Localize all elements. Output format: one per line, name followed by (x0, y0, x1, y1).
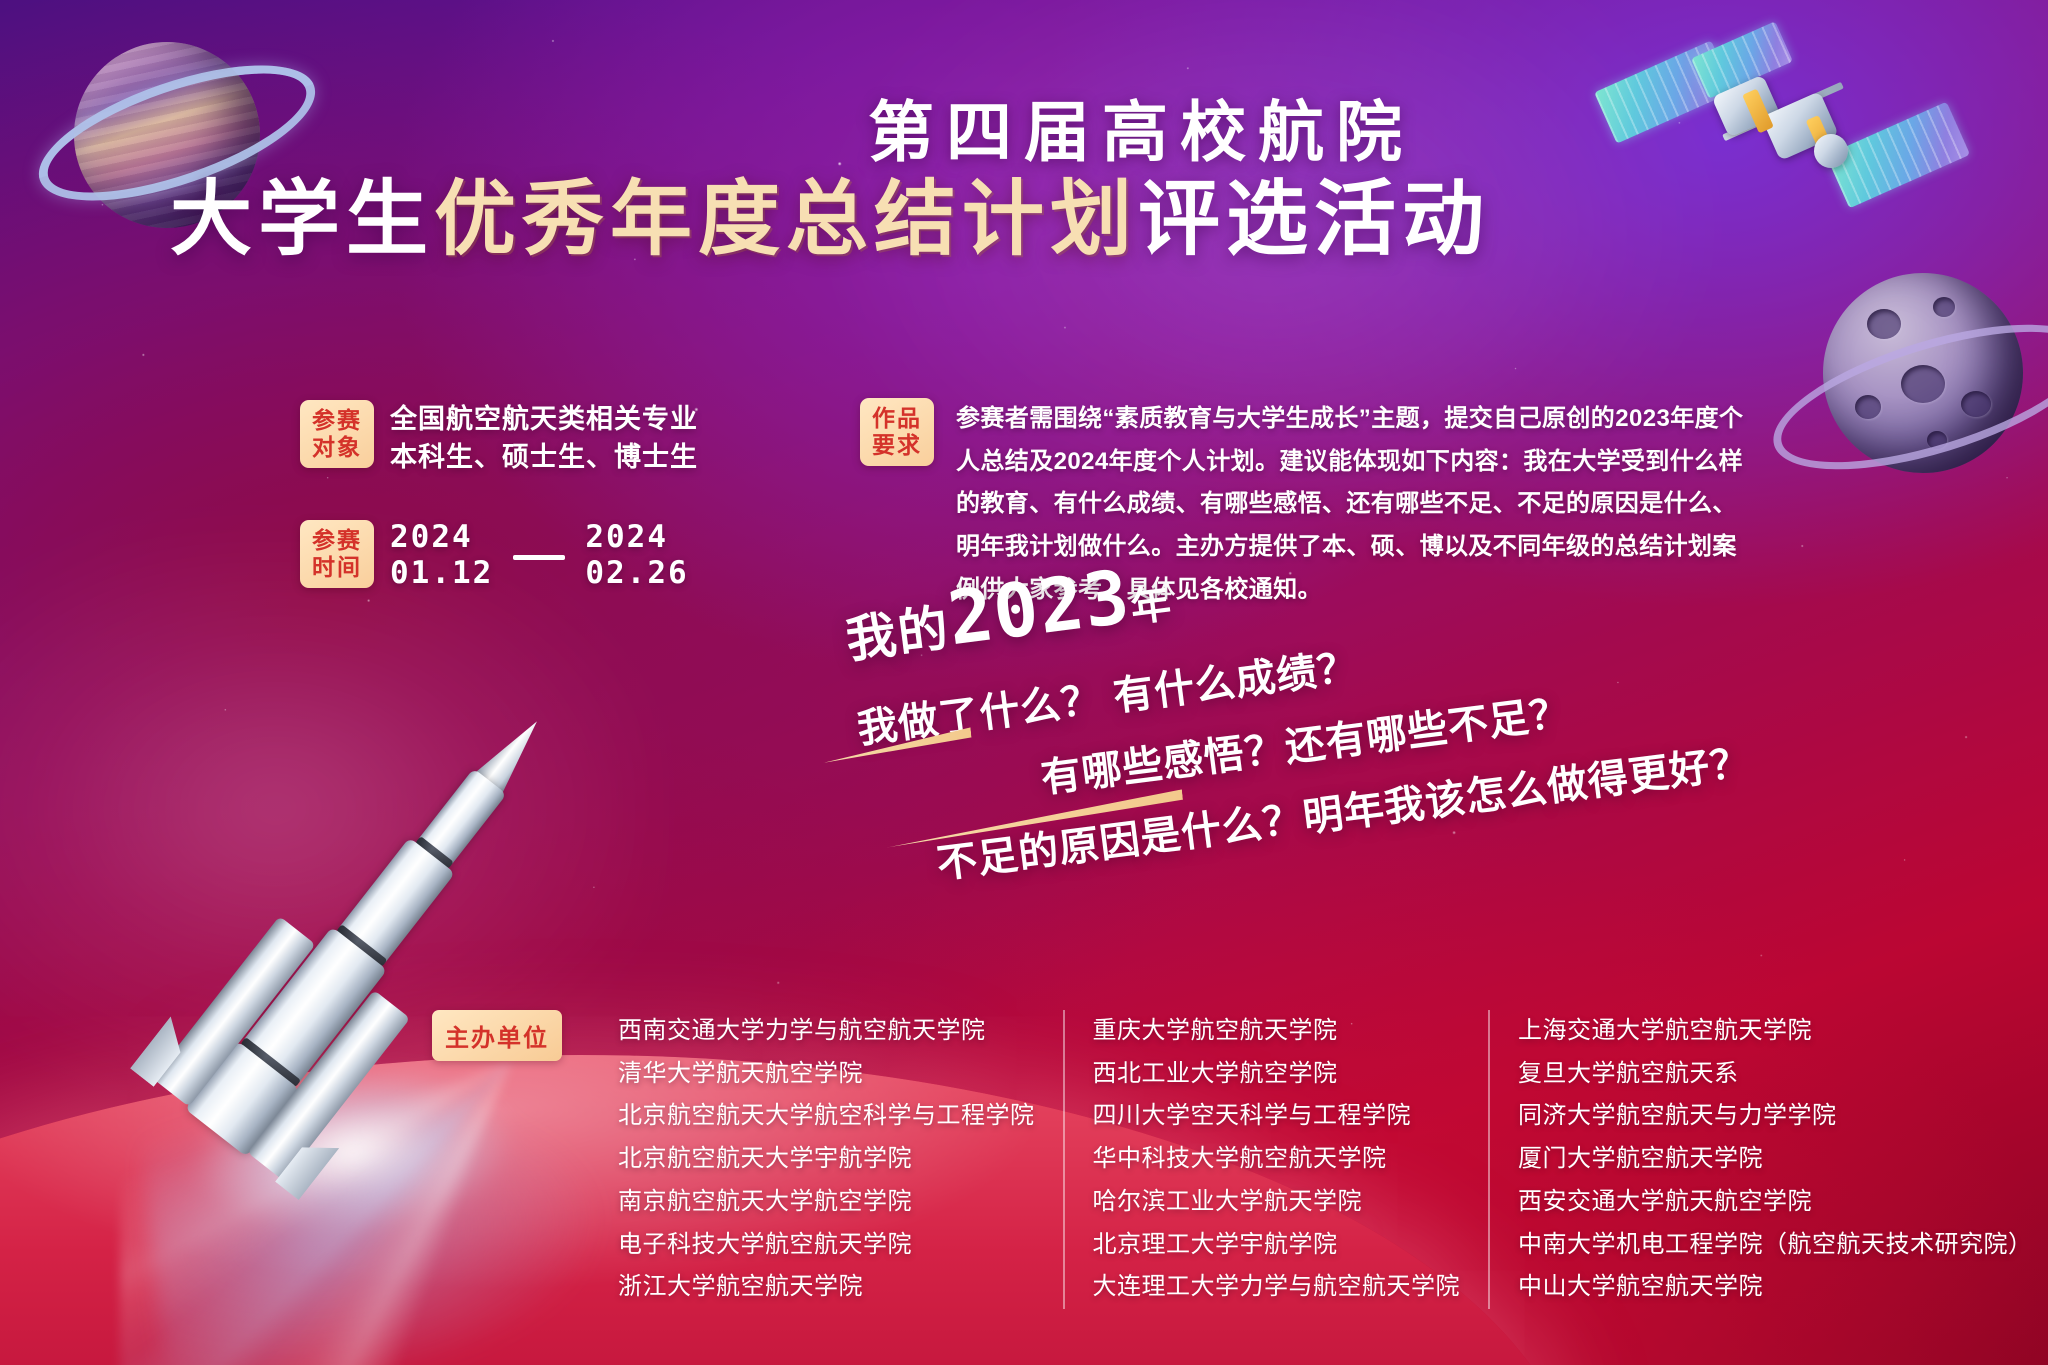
schedule-start-date: 01.12 (390, 556, 493, 592)
list-item: 复旦大学航空航天系 (1518, 1053, 2033, 1096)
audience-block: 参赛 对象 全国航空航天类相关专业 本科生、硕士生、博士生 (300, 400, 698, 477)
title-line-1: 第四届高校航院 (170, 96, 1420, 170)
list-item: 北京理工大学宇航学院 (1093, 1224, 1461, 1267)
requirements-chip-line-2: 要求 (872, 432, 922, 458)
organizers-column-3: 上海交通大学航空航天学院 复旦大学航空航天系 同济大学航空航天与力学学院 厦门大… (1488, 1010, 2048, 1309)
organizers-column-1: 西南交通大学力学与航空航天学院 清华大学航天航空学院 北京航空航天大学航空科学与… (590, 1010, 1063, 1309)
list-item: 西北工业大学航空学院 (1093, 1053, 1461, 1096)
audience-text: 全国航空航天类相关专业 本科生、硕士生、博士生 (390, 400, 698, 477)
list-item: 上海交通大学航空航天学院 (1518, 1010, 2033, 1053)
list-item: 清华大学航天航空学院 (618, 1053, 1035, 1096)
poster-title: 第四届高校航院 大学生优秀年度总结计划评选活动 (170, 96, 1420, 267)
schedule-start: 2024 01.12 (390, 520, 493, 592)
audience-chip-line-1: 参赛 (312, 407, 362, 433)
list-item: 电子科技大学航空航天学院 (618, 1224, 1035, 1267)
schedule-block: 参赛 时间 2024 01.12 2024 02.26 (300, 520, 689, 592)
audience-chip-line-2: 对象 (312, 434, 362, 460)
audience-text-line-1: 全国航空航天类相关专业 (390, 400, 698, 438)
title-line-2: 大学生优秀年度总结计划评选活动 (170, 172, 1420, 267)
audience-chip: 参赛 对象 (300, 400, 374, 468)
audience-text-line-2: 本科生、硕士生、博士生 (390, 438, 698, 476)
organizers-chip: 主办单位 (432, 1010, 562, 1061)
title-highlight: 优秀年度总结计划 (434, 174, 1138, 265)
list-item: 四川大学空天科学与工程学院 (1093, 1095, 1461, 1138)
schedule-start-year: 2024 (390, 520, 493, 556)
schedule-chip-line-1: 参赛 (312, 527, 362, 553)
list-item: 中山大学航空航天学院 (1518, 1266, 2033, 1309)
title-prefix: 大学生 (170, 174, 434, 265)
list-item: 哈尔滨工业大学航天学院 (1093, 1181, 1461, 1224)
schedule-chip: 参赛 时间 (300, 520, 374, 588)
list-item: 南京航空航天大学航空学院 (618, 1181, 1035, 1224)
list-item: 重庆大学航空航天学院 (1093, 1010, 1461, 1053)
list-item: 同济大学航空航天与力学学院 (1518, 1095, 2033, 1138)
requirements-chip: 作品 要求 (860, 398, 934, 466)
list-item: 华中科技大学航空航天学院 (1093, 1138, 1461, 1181)
organizers-column-2: 重庆大学航空航天学院 西北工业大学航空学院 四川大学空天科学与工程学院 华中科技… (1063, 1010, 1489, 1309)
list-item: 大连理工大学力学与航空航天学院 (1093, 1266, 1461, 1309)
schedule-separator (513, 555, 565, 560)
schedule-end-date: 02.26 (585, 556, 688, 592)
satellite-icon (1600, 30, 1960, 290)
questions-year-prefix: 我的 (843, 600, 953, 669)
list-item: 厦门大学航空航天学院 (1518, 1138, 2033, 1181)
list-item: 西南交通大学力学与航空航天学院 (618, 1010, 1035, 1053)
title-suffix: 评选活动 (1138, 174, 1490, 265)
list-item: 中南大学机电工程学院（航空航天技术研究院） (1518, 1224, 2033, 1267)
schedule-end: 2024 02.26 (585, 520, 688, 592)
list-item: 北京航空航天大学宇航学院 (618, 1138, 1035, 1181)
organizers-columns: 西南交通大学力学与航空航天学院 清华大学航天航空学院 北京航空航天大学航空科学与… (590, 1010, 2048, 1309)
cratered-planet-icon (1775, 255, 2048, 515)
organizers-block: 主办单位 西南交通大学力学与航空航天学院 清华大学航天航空学院 北京航空航天大学… (432, 1010, 2048, 1309)
list-item: 北京航空航天大学航空科学与工程学院 (618, 1095, 1035, 1138)
schedule-end-year: 2024 (585, 520, 688, 556)
schedule-dates: 2024 01.12 2024 02.26 (390, 520, 689, 592)
poster-canvas: 第四届高校航院 大学生优秀年度总结计划评选活动 参赛 对象 全国航空航天类相关专… (0, 0, 2048, 1365)
requirements-chip-line-1: 作品 (872, 405, 922, 431)
schedule-chip-line-2: 时间 (312, 554, 362, 580)
list-item: 西安交通大学航天航空学院 (1518, 1181, 2033, 1224)
questions-year-suffix: 年 (1128, 582, 1175, 631)
list-item: 浙江大学航空航天学院 (618, 1266, 1035, 1309)
